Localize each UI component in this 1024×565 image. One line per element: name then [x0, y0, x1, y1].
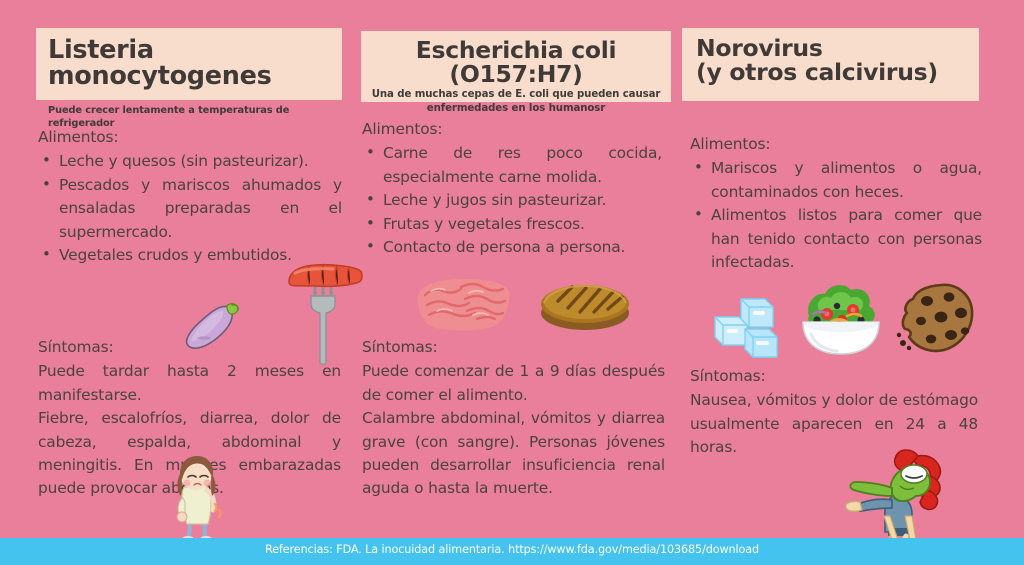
list-item: Leche y jugos sin pasteurizar. [362, 189, 662, 212]
cookie-icon [897, 281, 975, 355]
disease-title-listeria: Listeria monocytogenes [48, 37, 332, 90]
salad-bowl-icon [797, 280, 885, 358]
list-item: Alimentos listos para comer que han teni… [690, 204, 982, 274]
list-item: Mariscos y alimentos o agua, contaminado… [690, 157, 982, 204]
infographic-poster: Listeria monocytogenes Puede crecer lent… [0, 0, 1024, 565]
symptoms-label-ecoli: Síntomas: [362, 336, 665, 359]
ground-beef-icon [411, 273, 515, 335]
symptoms-paragraph: Calambre abdominal, vómitos y diarrea gr… [362, 407, 665, 501]
foods-label-norovirus: Alimentos: [690, 133, 982, 156]
disease-subtitle-ecoli: Una de muchas cepas de E. coli que puede… [367, 88, 665, 116]
sausage-on-fork-icon [285, 258, 361, 368]
foods-label-ecoli: Alimentos: [362, 118, 662, 141]
list-item: Leche y quesos (sin pasteurizar). [38, 150, 342, 173]
eggplant-icon [183, 303, 241, 351]
list-item: Pescados y mariscos ahumados y ensaladas… [38, 174, 342, 244]
foods-block-norovirus: Alimentos: Mariscos y alimentos o agua, … [690, 133, 982, 274]
symptoms-paragraph: Puede comenzar de 1 a 9 días después de … [362, 360, 665, 407]
list-item: Frutas y vegetales frescos. [362, 213, 662, 236]
foods-list-norovirus: Mariscos y alimentos o agua, contaminado… [690, 157, 982, 274]
foods-block-listeria: Alimentos: Leche y quesos (sin pasteuriz… [38, 126, 342, 267]
list-item: Carne de res poco cocida, especialmente … [362, 142, 662, 189]
symptoms-label-norovirus: Síntomas: [690, 365, 978, 388]
ice-cubes-icon [711, 295, 789, 363]
symptoms-block-ecoli: Síntomas: Puede comenzar de 1 a 9 días d… [362, 336, 665, 501]
disease-title-norovirus: Norovirus (y otros calcivirus) [696, 36, 973, 84]
pregnant-girl-icon [163, 452, 231, 542]
foods-block-ecoli: Alimentos: Carne de res poco cocida, esp… [362, 118, 662, 259]
disease-title-ecoli: Escherichia coli (O157:H7) [367, 38, 665, 86]
footer-bar: Referencias: FDA. La inocuidad alimentar… [0, 538, 1024, 565]
footer-reference-text: Referencias: FDA. La inocuidad alimentar… [0, 543, 1024, 556]
disease-title-line2: (y otros calcivirus) [696, 58, 938, 86]
foods-label-listeria: Alimentos: [38, 126, 342, 149]
burger-patty-icon [538, 277, 632, 333]
foods-list-listeria: Leche y quesos (sin pasteurizar). Pescad… [38, 150, 342, 267]
list-item: Contacto de persona a persona. [362, 236, 662, 259]
header-plaque-listeria: Listeria monocytogenes Puede crecer lent… [36, 28, 342, 100]
header-plaque-ecoli: Escherichia coli (O157:H7) Una de muchas… [361, 31, 671, 102]
header-plaque-norovirus: Norovirus (y otros calcivirus) [682, 28, 979, 101]
foods-list-ecoli: Carne de res poco cocida, especialmente … [362, 142, 662, 259]
sick-rooster-icon [842, 440, 948, 542]
